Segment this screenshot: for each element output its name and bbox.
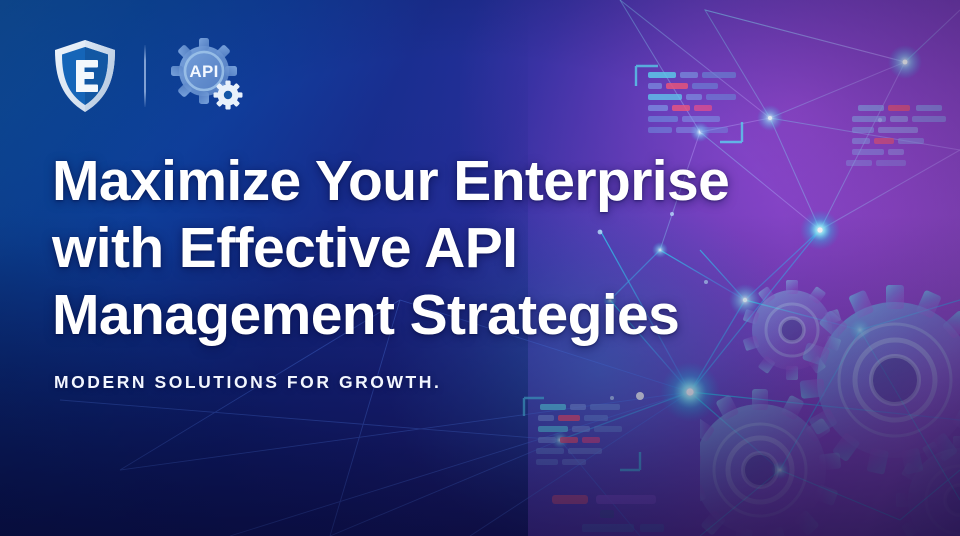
headline-line-3: Management Strategies — [52, 282, 892, 349]
shield-icon — [52, 38, 118, 114]
api-gear-label: API — [189, 62, 218, 81]
gear-api-icon: API — [168, 37, 246, 115]
page-title: Maximize Your Enterprise with Effective … — [52, 148, 892, 349]
logo-divider — [144, 45, 146, 107]
brand-logo-row: API — [52, 38, 246, 114]
hero-content: API Maximize Your Enterprise with Effect… — [0, 0, 960, 536]
hero-banner: API Maximize Your Enterprise with Effect… — [0, 0, 960, 536]
headline-line-1: Maximize Your Enterprise — [52, 148, 892, 215]
headline-line-2: with Effective API — [52, 215, 892, 282]
page-subtitle: MODERN SOLUTIONS FOR GROWTH. — [54, 372, 441, 393]
small-gear-icon — [214, 81, 243, 110]
